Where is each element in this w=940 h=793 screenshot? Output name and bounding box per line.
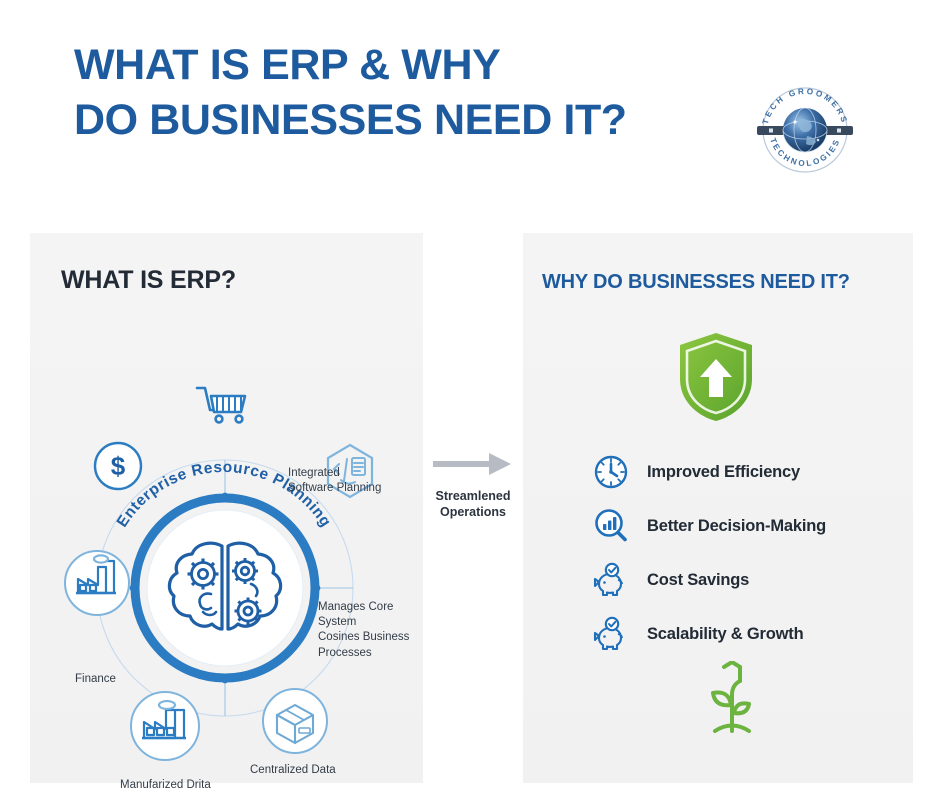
piggy-bank-check-icon	[593, 562, 629, 598]
shopping-cart-icon	[197, 388, 245, 422]
label-integrated-software-planning: Integrated Software Planning	[288, 466, 381, 496]
benefit-row-cost-savings[interactable]: Cost Savings	[593, 553, 913, 607]
right-arrow-icon	[433, 452, 513, 476]
piggy-bank-check-icon	[593, 616, 629, 652]
svg-text:$: $	[111, 451, 126, 481]
benefit-label: Improved Efficiency	[647, 463, 800, 482]
factory-icon	[131, 692, 199, 760]
panel-what-is-erp: WHAT IS ERP?	[30, 233, 423, 783]
clock-icon	[593, 454, 629, 490]
label-manages-core-system: Manages Core System Cosines Business Pro…	[318, 600, 409, 661]
benefit-label: Scalability & Growth	[647, 625, 803, 644]
left-panel-title: WHAT IS ERP?	[61, 266, 236, 295]
streamlined-operations-label: Streamlened Operations	[423, 488, 523, 520]
green-growth-plant-icon	[701, 661, 763, 739]
package-box-icon	[263, 689, 327, 753]
benefit-row-scalability-growth[interactable]: Scalability & Growth	[593, 607, 913, 661]
benefit-row-better-decision-making[interactable]: Better Decision-Making	[593, 499, 913, 553]
magnifier-bar-chart-icon	[593, 508, 629, 544]
benefit-row-improved-efficiency[interactable]: Improved Efficiency	[593, 445, 913, 499]
tech-groomers-technologies-logo: TECH GROOMERS TECHNOLOGIES	[745, 80, 865, 180]
panel-why-businesses-need-it: WHY DO BUSINESSES NEED IT?	[523, 233, 913, 783]
dollar-circle-icon: $	[95, 443, 141, 489]
infographic-canvas: WHAT IS ERP & WHY DO BUSINESSES NEED IT?…	[0, 0, 940, 788]
transition-arrow-group: Streamlened Operations	[423, 452, 523, 542]
factory-building-icon	[65, 551, 129, 615]
header: WHAT IS ERP & WHY DO BUSINESSES NEED IT?…	[0, 0, 940, 215]
erp-diagram: Enterprise Resource Planning	[30, 338, 423, 768]
label-finance: Finance	[75, 672, 116, 687]
benefit-label: Better Decision-Making	[647, 517, 826, 536]
label-centralized-data: Centralized Data	[250, 763, 336, 778]
label-manufactured-data: Manufarized Drita	[120, 778, 211, 793]
benefits-list: Improved Efficiency Better Decision-Maki	[593, 445, 913, 661]
green-shield-up-arrow-icon	[676, 331, 756, 423]
page-title: WHAT IS ERP & WHY DO BUSINESSES NEED IT?	[74, 38, 627, 148]
right-panel-title: WHY DO BUSINESSES NEED IT?	[542, 271, 850, 294]
benefit-label: Cost Savings	[647, 571, 749, 590]
